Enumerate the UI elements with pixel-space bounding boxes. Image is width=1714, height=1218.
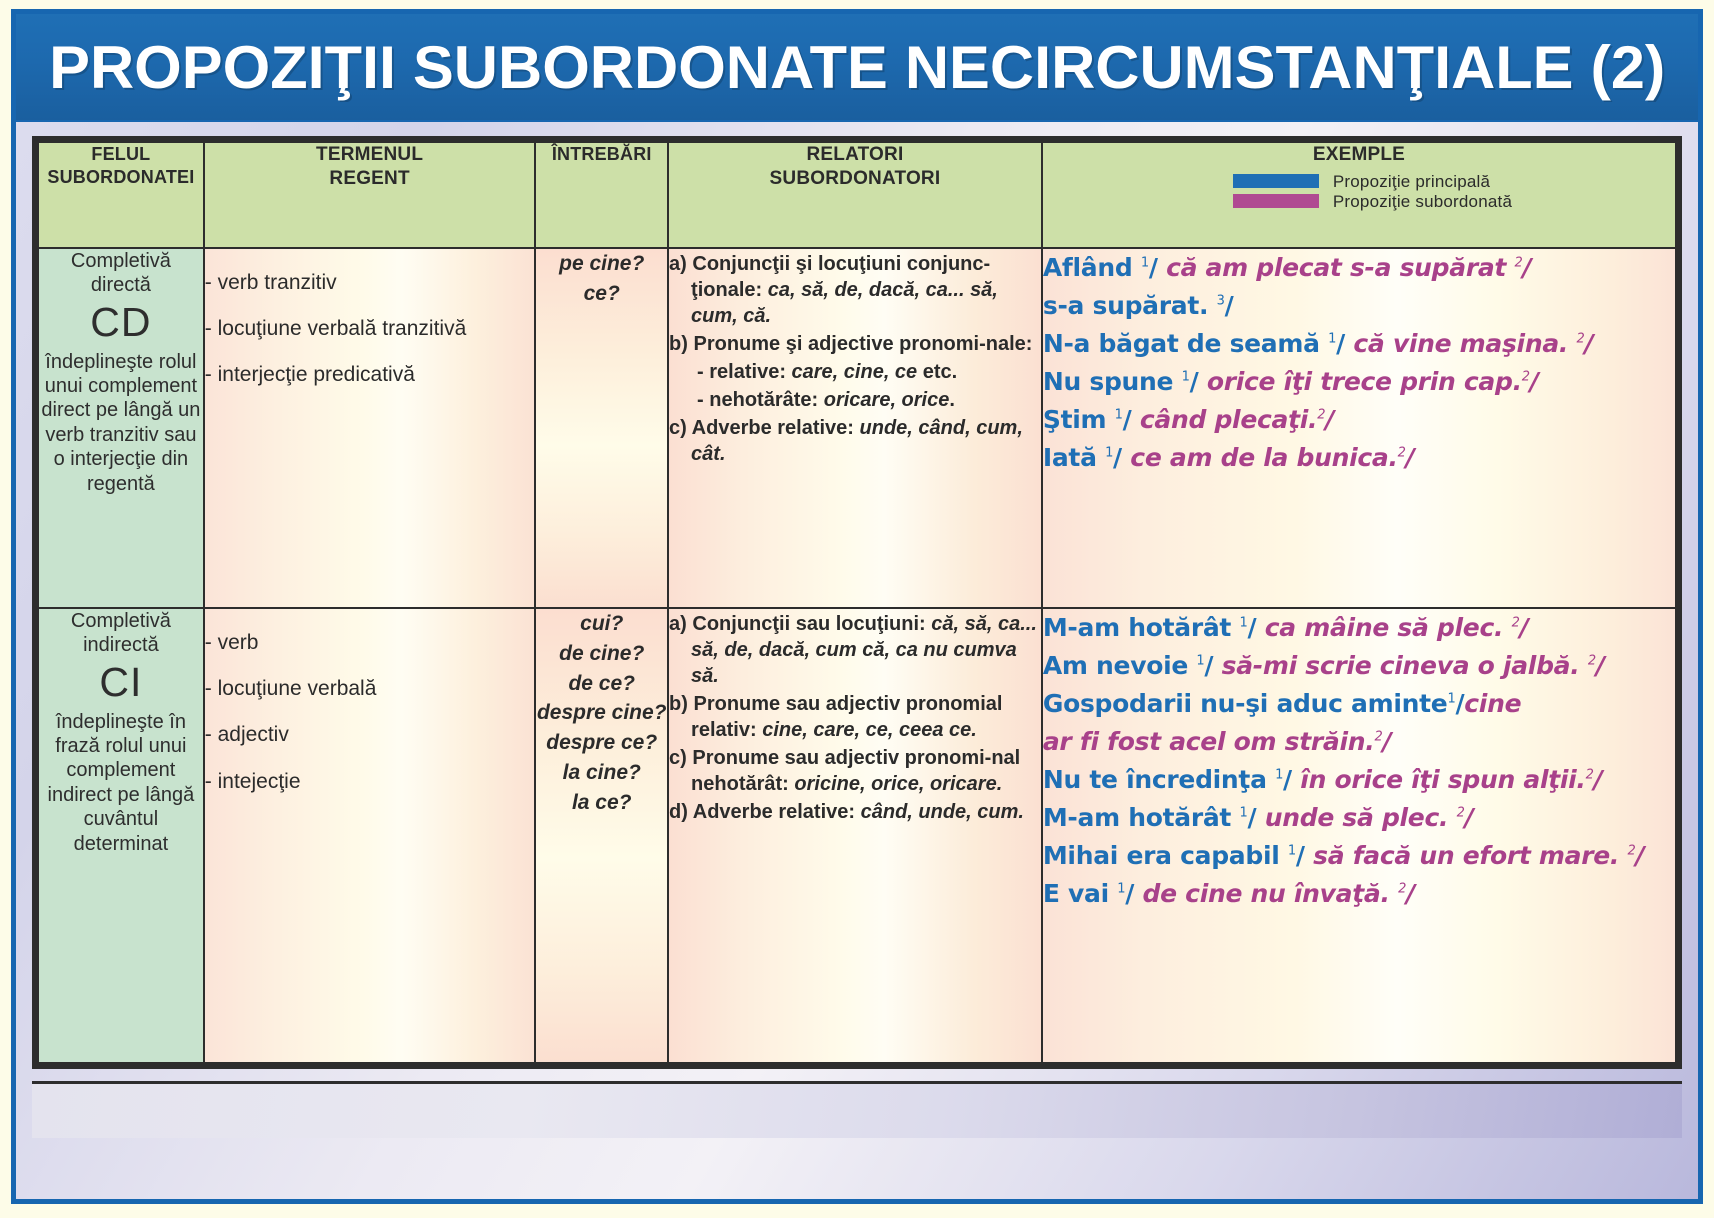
clause-principala: / bbox=[1123, 405, 1140, 434]
relatori-list-cd: a) Conjuncţii şi locuţiuni conjunc-ţiona… bbox=[669, 251, 1041, 467]
clause-principala: / bbox=[1247, 613, 1264, 642]
clause-subordonata: cine bbox=[1464, 689, 1521, 718]
relator-examples: care, cine, ce bbox=[792, 361, 918, 383]
clause-number: 2 bbox=[1457, 806, 1465, 821]
clause-number: 2 bbox=[1398, 446, 1406, 461]
cell-intrebari-cd: pe cine? ce? bbox=[535, 248, 668, 608]
clause-number: 1 bbox=[1105, 446, 1113, 461]
clause-number: 1 bbox=[1141, 256, 1149, 271]
clause-principala: / bbox=[1247, 803, 1264, 832]
clause-subordonata: / bbox=[1522, 253, 1531, 282]
example-line: Ştim 1/ când plecaţi.2/ bbox=[1043, 401, 1675, 439]
regent-item: - locuţiune verbală tranzitivă bbox=[205, 316, 535, 341]
relatori-list-ci: a) Conjuncţii sau locuţiuni: că, să, ca.… bbox=[669, 611, 1041, 825]
cell-relatori-ci: a) Conjuncţii sau locuţiuni: că, să, ca.… bbox=[668, 608, 1042, 1063]
felul-abbr-ci: CI bbox=[39, 658, 203, 710]
exemple-list-cd: Aflând 1/ că am plecat s-a supărat 2/s-a… bbox=[1043, 249, 1675, 477]
relator-text: - nehotărâte: bbox=[697, 389, 824, 411]
regent-item: - interjecţie predicativă bbox=[205, 362, 535, 387]
example-line: M-am hotărât 1/ ca mâine să plec. 2/ bbox=[1043, 609, 1675, 647]
example-line: Am nevoie 1/ să-mi scrie cineva o jalbă.… bbox=[1043, 647, 1675, 685]
legend-label-principala: Propoziţie principală bbox=[1333, 173, 1490, 190]
relator-item: b) Pronume sau adjectiv pronomial relati… bbox=[669, 691, 1041, 743]
cell-regent-cd: - verb tranzitiv - locuţiune verbală tra… bbox=[204, 248, 536, 608]
relator-label: a) bbox=[669, 253, 692, 275]
header-termen-line1: TERMENUL bbox=[316, 144, 423, 165]
grammar-table-wrapper: FELUL SUBORDONATEI TERMENUL REGENT ÎNTRE… bbox=[32, 136, 1682, 1069]
intrebare-item: despre ce? bbox=[536, 728, 667, 758]
clause-principala: N-a băgat de seamă bbox=[1043, 329, 1328, 358]
clause-subordonata: / bbox=[1636, 841, 1645, 870]
relator-label: d) bbox=[669, 801, 693, 823]
grammar-table: FELUL SUBORDONATEI TERMENUL REGENT ÎNTRE… bbox=[37, 141, 1677, 1064]
cell-relatori-cd: a) Conjuncţii şi locuţiuni conjunc-ţiona… bbox=[668, 248, 1042, 608]
example-line: M-am hotărât 1/ unde să plec. 2/ bbox=[1043, 799, 1675, 837]
clause-principala: M-am hotărât bbox=[1043, 803, 1240, 832]
clause-number: 2 bbox=[1398, 882, 1406, 897]
header-felul-line2: SUBORDONATEI bbox=[47, 167, 194, 187]
exemple-list-ci: M-am hotărât 1/ ca mâine să plec. 2/Am n… bbox=[1043, 609, 1675, 913]
example-line: Nu spune 1/ orice îţi trece prin cap.2/ bbox=[1043, 363, 1675, 401]
header-exemple-title: EXEMPLE bbox=[1043, 143, 1675, 167]
clause-principala: / bbox=[1149, 253, 1166, 282]
clause-number: 2 bbox=[1588, 654, 1596, 669]
content-panel: FELUL SUBORDONATEI TERMENUL REGENT ÎNTRE… bbox=[16, 122, 1698, 1199]
page-title: PROPOZIŢII SUBORDONATE NECIRCUMSTANŢIALE… bbox=[49, 33, 1665, 102]
relator-text: Conjuncţii sau locuţiuni: bbox=[692, 613, 931, 635]
clause-subordonata: / bbox=[1596, 651, 1605, 680]
header-felul-line1: FELUL bbox=[91, 144, 150, 164]
clause-principala: Nu te încredinţa bbox=[1043, 765, 1275, 794]
relator-label: b) bbox=[669, 333, 693, 355]
clause-subordonata: în orice îţi spun alţii. bbox=[1300, 765, 1585, 794]
cell-felul-ci: Completivă indirectă CI îndeplineşte în … bbox=[38, 608, 204, 1063]
clause-principala: / bbox=[1283, 765, 1300, 794]
felul-abbr-cd: CD bbox=[39, 298, 203, 350]
felul-lead1-ci: Completivă bbox=[39, 609, 203, 633]
panel-spacer bbox=[32, 1069, 1682, 1081]
clause-principala: E vai bbox=[1043, 879, 1117, 908]
clause-subordonata: că am plecat s-a supărat bbox=[1166, 253, 1514, 282]
poster-frame: PROPOZIŢII SUBORDONATE NECIRCUMSTANŢIALE… bbox=[11, 9, 1703, 1204]
clause-principala: Am nevoie bbox=[1043, 651, 1197, 680]
clause-subordonata: de cine nu învaţă. bbox=[1143, 879, 1399, 908]
example-line: N-a băgat de seamă 1/ că vine maşina. 2/ bbox=[1043, 325, 1675, 363]
relator-examples: oricare, orice bbox=[824, 389, 950, 411]
relator-examples: când, unde, cum. bbox=[861, 801, 1024, 823]
poster-root: PROPOZIŢII SUBORDONATE NECIRCUMSTANŢIALE… bbox=[0, 0, 1714, 1218]
clause-principala: / bbox=[1336, 329, 1353, 358]
clause-number: 3 bbox=[1217, 294, 1225, 309]
intrebare-item: la ce? bbox=[536, 788, 667, 818]
intrebare-item: de cine? bbox=[536, 639, 667, 669]
example-line: Gospodarii nu-şi aduc aminte1/cine bbox=[1043, 685, 1675, 723]
clause-subordonata: ca mâine să plec. bbox=[1265, 613, 1512, 642]
clause-subordonata: să-mi scrie cineva o jalbă. bbox=[1222, 651, 1588, 680]
clause-principala: Aflând bbox=[1043, 253, 1141, 282]
clause-number: 2 bbox=[1628, 844, 1636, 859]
intrebare-item: ce? bbox=[536, 279, 667, 309]
clause-principala: / bbox=[1204, 651, 1221, 680]
intrebare-item: pe cine? bbox=[536, 249, 667, 279]
relator-text: Pronume şi adjective pronomi-nale: bbox=[693, 333, 1032, 355]
cell-regent-ci: - verb - locuţiune verbală - adjectiv - … bbox=[204, 608, 536, 1063]
table-row-ci: Completivă indirectă CI îndeplineşte în … bbox=[38, 608, 1676, 1063]
footer-strip bbox=[32, 1081, 1682, 1138]
clause-subordonata: unde să plec. bbox=[1265, 803, 1457, 832]
cell-felul-cd: Completivă directă CD îndeplineşte rolul… bbox=[38, 248, 204, 608]
regent-item: - locuţiune verbală bbox=[205, 676, 535, 701]
relator-item: c) Adverbe relative: unde, când, cum, câ… bbox=[669, 415, 1041, 467]
table-row-cd: Completivă directă CD îndeplineşte rolul… bbox=[38, 248, 1676, 608]
header-intrebari: ÎNTREBĂRI bbox=[535, 142, 668, 248]
clause-principala: / bbox=[1225, 291, 1234, 320]
relator-item: d) Adverbe relative: când, unde, cum. bbox=[669, 799, 1041, 825]
relator-label: b) bbox=[669, 693, 693, 715]
clause-principala: M-am hotărât bbox=[1043, 613, 1240, 642]
clause-number: 1 bbox=[1275, 768, 1283, 783]
clause-number: 2 bbox=[1317, 408, 1325, 423]
clause-principala: Mihai era capabil bbox=[1043, 841, 1288, 870]
clause-subordonata: / bbox=[1406, 443, 1415, 472]
example-line: ar fi fost acel om străin.2/ bbox=[1043, 723, 1675, 761]
felul-lead2-ci: indirectă bbox=[39, 633, 203, 657]
intrebare-item: de ce? bbox=[536, 669, 667, 699]
cell-intrebari-ci: cui? de cine? de ce? despre cine? despre… bbox=[535, 608, 668, 1063]
relator-item: a) Conjuncţii şi locuţiuni conjunc-ţiona… bbox=[669, 251, 1041, 329]
clause-number: 1 bbox=[1288, 844, 1296, 859]
clause-subordonata: că vine maşina. bbox=[1353, 329, 1576, 358]
cell-exemple-cd: Aflând 1/ că am plecat s-a supărat 2/s-a… bbox=[1042, 248, 1676, 608]
regent-item: - adjectiv bbox=[205, 722, 535, 747]
clause-principala: Gospodarii nu-şi aduc aminte bbox=[1043, 689, 1448, 718]
regent-item: - verb tranzitiv bbox=[205, 270, 535, 295]
example-line: Mihai era capabil 1/ să facă un efort ma… bbox=[1043, 837, 1675, 875]
title-bar: PROPOZIŢII SUBORDONATE NECIRCUMSTANŢIALE… bbox=[16, 14, 1698, 122]
clause-subordonata: / bbox=[1530, 367, 1539, 396]
felul-desc-ci: îndeplineşte în frază rolul unui complem… bbox=[39, 710, 203, 856]
cell-exemple-ci: M-am hotărât 1/ ca mâine să plec. 2/Am n… bbox=[1042, 608, 1676, 1063]
clause-principala: / bbox=[1455, 689, 1464, 718]
clause-principala: Nu spune bbox=[1043, 367, 1182, 396]
legend-swatch-principala bbox=[1233, 174, 1319, 188]
clause-principala: Iată bbox=[1043, 443, 1105, 472]
header-termenul-regent: TERMENUL REGENT bbox=[204, 142, 536, 248]
clause-subordonata: / bbox=[1520, 613, 1529, 642]
header-felul-subordonatei: FELUL SUBORDONATEI bbox=[38, 142, 204, 248]
clause-subordonata: ce am de la bunica. bbox=[1130, 443, 1397, 472]
example-line: Iată 1/ ce am de la bunica.2/ bbox=[1043, 439, 1675, 477]
felul-lead2-cd: directă bbox=[39, 273, 203, 297]
clause-principala: s-a supărat. bbox=[1043, 291, 1217, 320]
clause-subordonata: / bbox=[1325, 405, 1334, 434]
relator-text: Adverbe relative: bbox=[693, 801, 861, 823]
clause-subordonata: orice îţi trece prin cap. bbox=[1207, 367, 1522, 396]
felul-lead1-cd: Completivă bbox=[39, 249, 203, 273]
example-line: Aflând 1/ că am plecat s-a supărat 2/ bbox=[1043, 249, 1675, 287]
clause-subordonata: / bbox=[1465, 803, 1474, 832]
relator-label: a) bbox=[669, 613, 692, 635]
table-body: Completivă directă CD îndeplineşte rolul… bbox=[38, 248, 1676, 1063]
relator-tail: etc. bbox=[917, 361, 957, 383]
clause-subordonata: / bbox=[1584, 329, 1593, 358]
relator-item: c) Pronume sau adjectiv pronomi-nal neho… bbox=[669, 745, 1041, 797]
legend-label-subordonata: Propoziţie subordonată bbox=[1333, 193, 1512, 210]
clause-subordonata: / bbox=[1594, 765, 1603, 794]
relator-text: - relative: bbox=[697, 361, 791, 383]
clause-principala: Ştim bbox=[1043, 405, 1115, 434]
legend-swatch-subordonata bbox=[1233, 194, 1319, 208]
clause-principala: / bbox=[1125, 879, 1142, 908]
regent-item: - intejecţie bbox=[205, 769, 535, 794]
header-exemple: EXEMPLE Propoziţie principală Propoziţie… bbox=[1042, 142, 1676, 248]
header-termen-line2: REGENT bbox=[329, 168, 409, 189]
header-relatori-line2: SUBORDONATORI bbox=[770, 168, 941, 189]
relator-tail: . bbox=[949, 389, 955, 411]
clause-subordonata: să facă un efort mare. bbox=[1313, 841, 1627, 870]
clause-number: 1 bbox=[1115, 408, 1123, 423]
clause-subordonata: când plecaţi. bbox=[1140, 405, 1317, 434]
clause-principala: / bbox=[1190, 367, 1207, 396]
relator-label: c) bbox=[669, 417, 692, 439]
relator-subitem: - nehotărâte: oricare, orice. bbox=[697, 387, 1041, 413]
regent-item: - verb bbox=[205, 630, 535, 655]
relator-item: a) Conjuncţii sau locuţiuni: că, să, ca.… bbox=[669, 611, 1041, 689]
intrebare-item: cui? bbox=[536, 609, 667, 639]
relator-examples: cine, care, ce, ceea ce. bbox=[762, 719, 977, 741]
relator-label: c) bbox=[669, 747, 692, 769]
clause-subordonata: / bbox=[1382, 727, 1391, 756]
table-header-row: FELUL SUBORDONATEI TERMENUL REGENT ÎNTRE… bbox=[38, 142, 1676, 248]
legend-subordonata: Propoziţie subordonată bbox=[1233, 193, 1675, 210]
relator-item: b) Pronume şi adjective pronomi-nale: bbox=[669, 331, 1041, 357]
clause-principala: / bbox=[1296, 841, 1313, 870]
header-relatori-line1: RELATORI bbox=[806, 144, 903, 165]
clause-subordonata: ar fi fost acel om străin. bbox=[1043, 727, 1375, 756]
legend-principala: Propoziţie principală bbox=[1233, 173, 1675, 190]
clause-number: 1 bbox=[1328, 332, 1336, 347]
example-line: E vai 1/ de cine nu învaţă. 2/ bbox=[1043, 875, 1675, 913]
relator-examples: oricine, orice, oricare. bbox=[794, 773, 1002, 795]
clause-number: 2 bbox=[1586, 768, 1594, 783]
clause-number: 2 bbox=[1512, 616, 1520, 631]
clause-principala: / bbox=[1113, 443, 1130, 472]
felul-desc-cd: îndeplineşte rolul unui complement direc… bbox=[39, 350, 203, 496]
intrebare-item: despre cine? bbox=[536, 698, 667, 728]
intrebare-item: la cine? bbox=[536, 758, 667, 788]
clause-number: 2 bbox=[1522, 370, 1530, 385]
clause-subordonata: / bbox=[1406, 879, 1415, 908]
header-relatori-subordonatori: RELATORI SUBORDONATORI bbox=[668, 142, 1042, 248]
relator-text: Adverbe relative: bbox=[692, 417, 860, 439]
relator-subitem: - relative: care, cine, ce etc. bbox=[697, 359, 1041, 385]
clause-number: 1 bbox=[1182, 370, 1190, 385]
example-line: s-a supărat. 3/ bbox=[1043, 287, 1675, 325]
example-line: Nu te încredinţa 1/ în orice îţi spun al… bbox=[1043, 761, 1675, 799]
